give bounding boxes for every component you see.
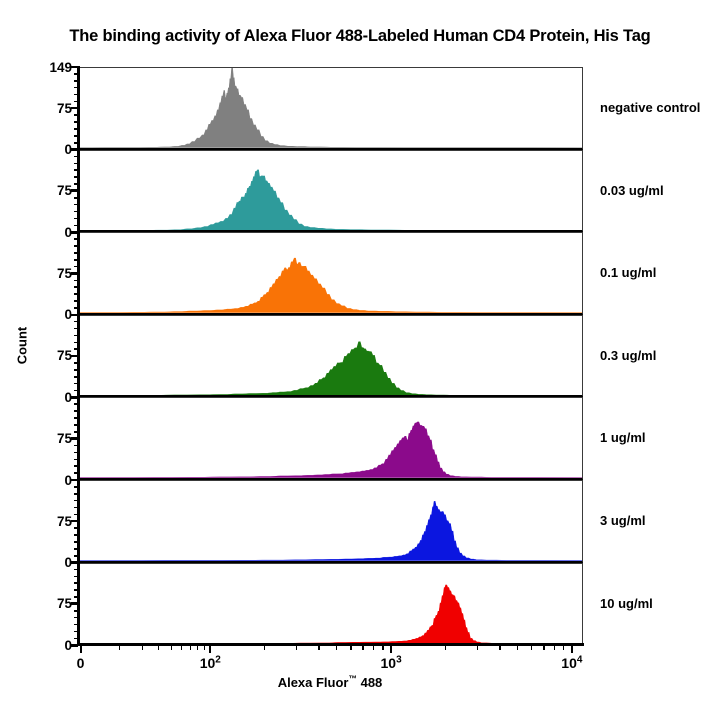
x-axis-tick-label: 103 <box>381 655 402 671</box>
y-tick-minor <box>74 534 79 536</box>
y-tick-minor <box>74 410 79 412</box>
x-axis-title: Alexa Fluor™ 488 <box>0 675 660 690</box>
y-tick-minor <box>74 252 79 254</box>
y-tick-minor <box>74 121 79 123</box>
y-tick-minor <box>74 486 79 488</box>
histogram-panel-stack <box>78 67 583 645</box>
y-axis-tick-label: 149 <box>20 61 72 75</box>
y-axis-title: Count <box>15 316 30 376</box>
y-tick-minor <box>74 300 79 302</box>
y-tick-minor <box>74 321 79 323</box>
x-tick-minor <box>543 645 544 650</box>
series-legend-label: 3 ug/ml <box>600 513 646 528</box>
y-tick-minor <box>74 328 79 330</box>
y-tick-minor <box>74 156 79 158</box>
y-tick-major <box>71 520 78 523</box>
x-tick-minor <box>499 645 500 650</box>
series-legend-label: 1 ug/ml <box>600 430 646 445</box>
x-tick-minor <box>142 645 143 650</box>
histogram-panel <box>78 150 583 233</box>
x-tick-minor <box>264 645 265 650</box>
x-axis-tick-label: 0 <box>77 655 85 671</box>
x-tick-minor <box>350 645 351 650</box>
y-axis-tick-label: 0 <box>20 391 72 405</box>
y-axis-tick-label: 0 <box>20 556 72 570</box>
x-tick-major <box>390 645 392 653</box>
histogram-trace <box>79 258 582 313</box>
series-legend-label: 0.3 ug/ml <box>600 348 656 363</box>
y-tick-minor <box>74 169 79 171</box>
x-tick-minor <box>477 645 478 650</box>
y-tick-minor <box>74 128 79 130</box>
y-tick-minor <box>74 624 79 626</box>
histogram-panel <box>78 397 583 480</box>
histogram-trace <box>79 584 582 643</box>
y-axis-tick-label: 0 <box>20 143 72 157</box>
y-axis-tick-label: 75 <box>20 267 72 281</box>
y-tick-minor <box>74 335 79 337</box>
x-axis-tick-label: 102 <box>200 655 221 671</box>
y-tick-minor <box>74 218 79 220</box>
y-axis-tick-label: 75 <box>20 102 72 116</box>
series-legend-label: 0.03 ug/ml <box>600 183 664 198</box>
y-tick-minor <box>74 589 79 591</box>
y-tick-minor <box>74 362 79 364</box>
y-tick-minor <box>74 569 79 571</box>
y-tick-major <box>71 355 78 358</box>
y-tick-major <box>71 66 78 69</box>
y-tick-major <box>71 437 78 440</box>
x-tick-minor <box>318 645 319 650</box>
series-legend-label: 10 ug/ml <box>600 596 653 611</box>
x-tick-minor <box>445 645 446 650</box>
y-tick-minor <box>74 452 79 454</box>
y-tick-minor <box>74 638 79 640</box>
y-tick-minor <box>74 459 79 461</box>
y-tick-minor <box>74 383 79 385</box>
x-tick-minor <box>554 645 555 650</box>
x-axis-line <box>77 643 584 646</box>
y-tick-minor <box>74 376 79 378</box>
y-tick-minor <box>74 472 79 474</box>
y-tick-minor <box>74 293 79 295</box>
y-tick-minor <box>74 314 79 316</box>
y-axis-tick-label: 75 <box>20 597 72 611</box>
histogram-panel <box>78 563 583 646</box>
x-tick-minor <box>190 645 191 650</box>
y-tick-minor <box>74 87 79 89</box>
x-tick-minor <box>336 645 337 650</box>
y-tick-major <box>71 189 78 192</box>
y-tick-major <box>71 107 78 110</box>
y-tick-minor <box>74 204 79 206</box>
y-tick-minor <box>74 527 79 529</box>
y-tick-minor <box>74 445 79 447</box>
y-tick-minor <box>74 348 79 350</box>
y-tick-minor <box>74 197 79 199</box>
y-tick-minor <box>74 80 79 82</box>
x-tick-minor <box>563 645 564 650</box>
y-tick-minor <box>74 582 79 584</box>
x-tick-major <box>80 645 82 653</box>
y-axis-tick-label: 75 <box>20 432 72 446</box>
y-tick-minor <box>74 114 79 116</box>
flow-cytometry-figure: The binding activity of Alexa Fluor 488-… <box>0 0 720 720</box>
histogram-trace <box>79 169 582 230</box>
x-tick-minor <box>517 645 518 650</box>
y-tick-minor <box>74 135 79 137</box>
y-tick-minor <box>74 548 79 550</box>
y-tick-minor <box>74 231 79 233</box>
histogram-panel <box>78 67 583 150</box>
series-legend-label: 0.1 ug/ml <box>600 265 656 280</box>
x-tick-minor <box>204 645 205 650</box>
y-tick-minor <box>74 142 79 144</box>
histogram-trace <box>79 422 582 478</box>
histogram-panel <box>78 315 583 398</box>
y-tick-minor <box>74 514 79 516</box>
y-tick-minor <box>74 176 79 178</box>
y-tick-minor <box>74 163 79 165</box>
y-tick-minor <box>74 73 79 75</box>
x-tick-minor <box>197 645 198 650</box>
y-tick-minor <box>74 403 79 405</box>
trademark-symbol: ™ <box>348 674 357 684</box>
y-tick-minor <box>74 610 79 612</box>
y-tick-minor <box>74 479 79 481</box>
y-tick-minor <box>74 562 79 564</box>
histogram-trace <box>79 501 582 560</box>
y-tick-minor <box>74 390 79 392</box>
y-tick-minor <box>74 507 79 509</box>
x-tick-minor <box>158 645 159 650</box>
x-tick-minor <box>296 645 297 650</box>
y-tick-minor <box>74 576 79 578</box>
x-tick-major <box>209 645 211 653</box>
y-tick-minor <box>74 493 79 495</box>
y-tick-minor <box>74 631 79 633</box>
y-axis-tick-label: 0 <box>20 474 72 488</box>
y-tick-minor <box>74 596 79 598</box>
y-tick-minor <box>74 424 79 426</box>
histogram-panel <box>78 480 583 563</box>
page-title: The binding activity of Alexa Fluor 488-… <box>0 27 720 46</box>
histogram-panel <box>78 232 583 315</box>
y-tick-minor <box>74 280 79 282</box>
y-tick-minor <box>74 307 79 309</box>
y-axis-tick-label: 75 <box>20 515 72 529</box>
x-tick-minor <box>373 645 374 650</box>
y-tick-minor <box>74 500 79 502</box>
y-tick-minor <box>74 342 79 344</box>
y-tick-minor <box>74 369 79 371</box>
y-tick-minor <box>74 286 79 288</box>
x-tick-minor <box>382 645 383 650</box>
y-tick-minor <box>74 259 79 261</box>
y-tick-minor <box>74 431 79 433</box>
y-tick-minor <box>74 417 79 419</box>
y-tick-minor <box>74 211 79 213</box>
x-tick-minor <box>362 645 363 650</box>
y-tick-minor <box>74 94 79 96</box>
series-legend-label: negative control <box>600 100 700 115</box>
x-tick-minor <box>181 645 182 650</box>
x-axis-tick-label: 104 <box>561 655 582 671</box>
x-tick-major <box>571 645 573 653</box>
histogram-trace <box>79 68 582 148</box>
y-tick-minor <box>74 541 79 543</box>
y-tick-minor <box>74 397 79 399</box>
y-tick-minor <box>74 555 79 557</box>
y-axis-tick-label: 0 <box>20 226 72 240</box>
y-tick-minor <box>74 245 79 247</box>
x-tick-minor <box>119 645 120 650</box>
y-tick-minor <box>74 617 79 619</box>
y-axis-tick-label: 75 <box>20 184 72 198</box>
y-tick-minor <box>74 225 79 227</box>
y-tick-minor <box>74 465 79 467</box>
y-tick-major <box>71 272 78 275</box>
histogram-trace <box>79 341 582 395</box>
y-tick-minor <box>74 149 79 151</box>
y-tick-minor <box>74 101 79 103</box>
x-tick-minor <box>171 645 172 650</box>
y-tick-minor <box>74 183 79 185</box>
y-tick-major <box>71 602 78 605</box>
y-axis-tick-label: 0 <box>20 639 72 653</box>
x-tick-minor <box>531 645 532 650</box>
y-tick-minor <box>74 266 79 268</box>
y-tick-minor <box>74 238 79 240</box>
